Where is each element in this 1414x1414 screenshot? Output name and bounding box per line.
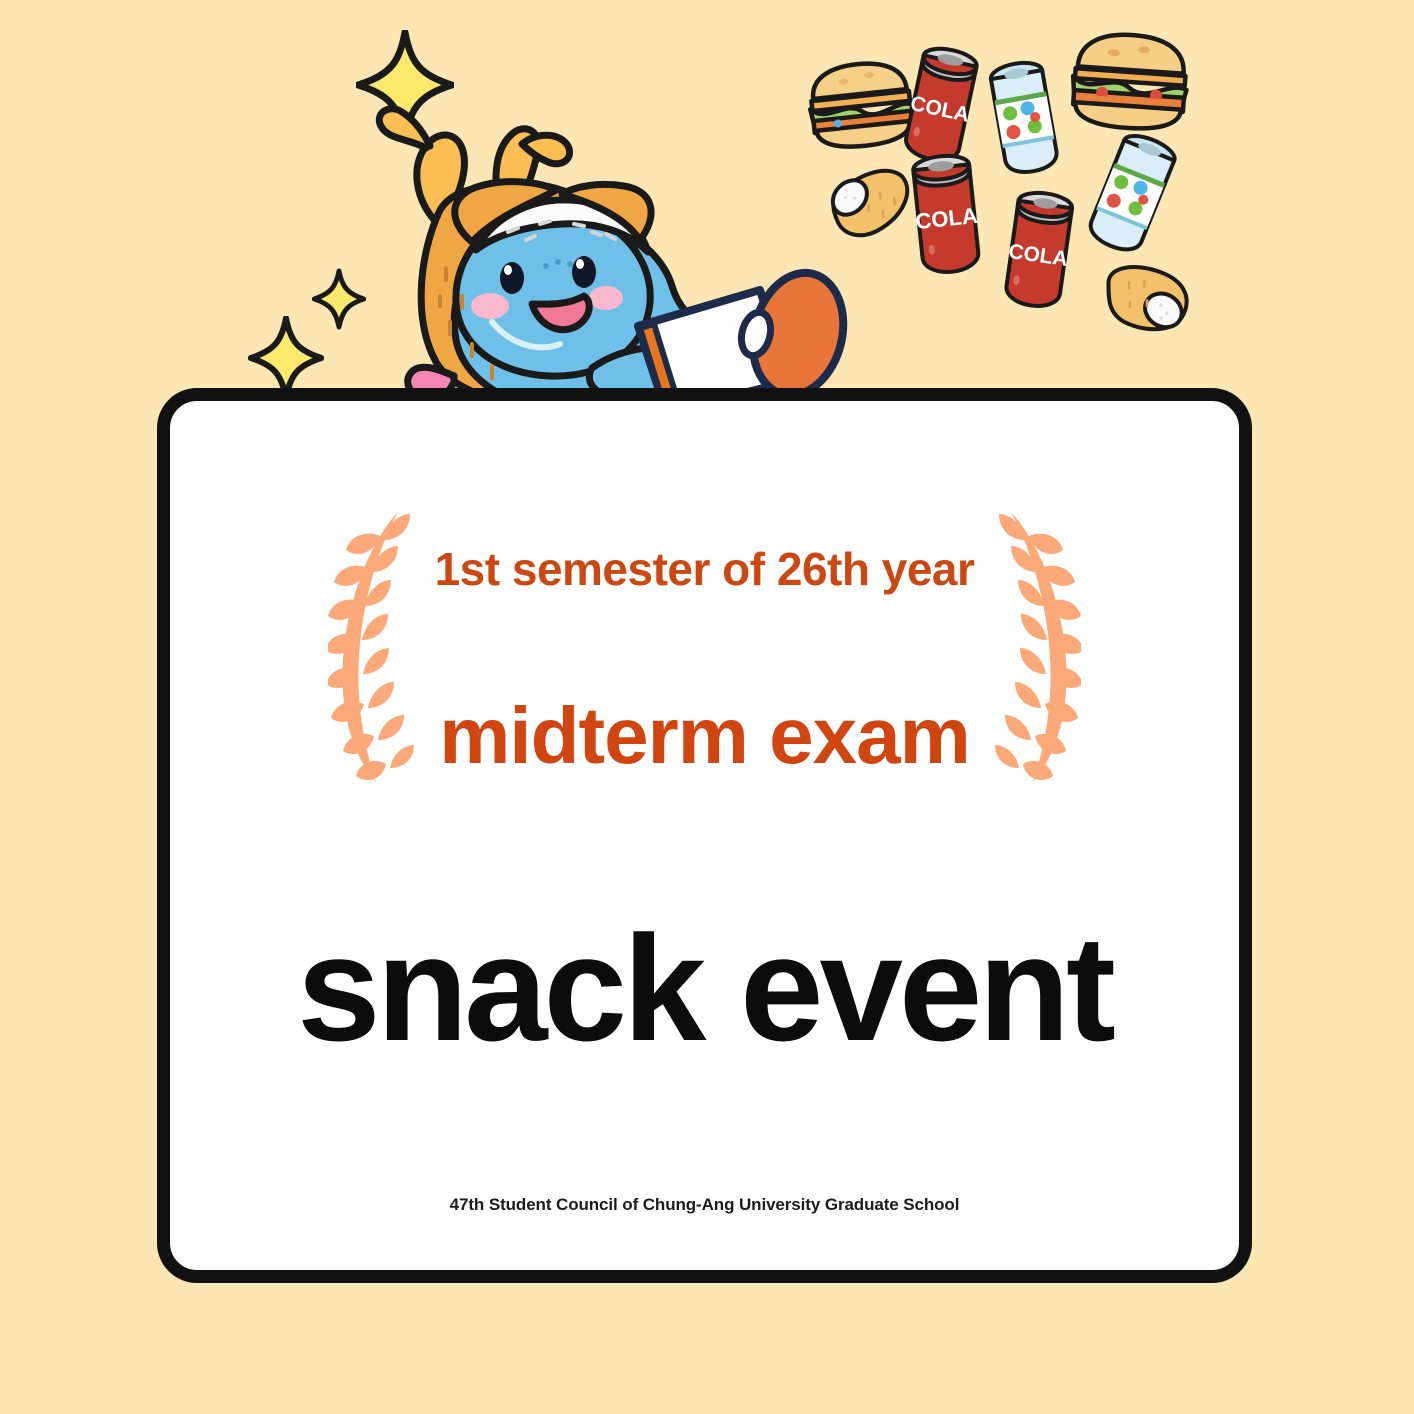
- wreath-heading-block: 1st semester of 26th year midterm exam: [170, 506, 1239, 791]
- juice-can-icon: [977, 52, 1070, 181]
- burger-icon: [1065, 24, 1196, 136]
- whale-mascot-with-megaphone: [240, 90, 890, 420]
- juice-can-icon: [1072, 120, 1192, 266]
- cheek-left-icon: [471, 293, 509, 319]
- cheek-right-icon: [589, 286, 623, 310]
- snack-event-poster: COLA: [0, 0, 1414, 1414]
- eye-right-icon: [572, 256, 596, 288]
- eye-left-icon: [500, 262, 524, 294]
- subtitle-heading: midterm exam: [170, 690, 1239, 782]
- eyebrow-heading: 1st semester of 26th year: [170, 542, 1239, 596]
- page-title: snack event: [170, 913, 1239, 1063]
- cola-can-icon: COLA: [992, 183, 1086, 315]
- organization-footer: 47th Student Council of Chung-Ang Univer…: [170, 1195, 1239, 1215]
- cola-can-icon: COLA: [900, 146, 993, 280]
- poster-card: 1st semester of 26th year midterm exam s…: [157, 388, 1252, 1283]
- inari-sushi-icon: [1082, 247, 1203, 349]
